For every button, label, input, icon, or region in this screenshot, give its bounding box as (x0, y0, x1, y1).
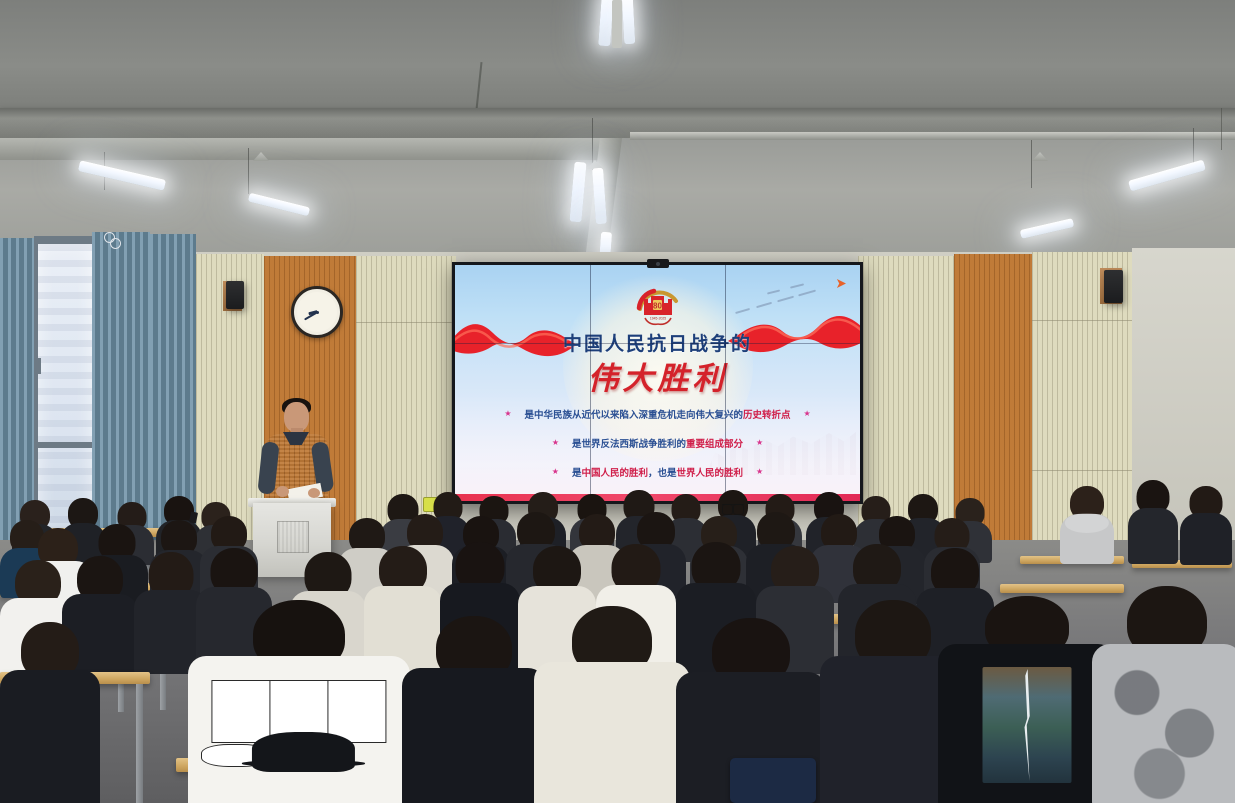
presenter (250, 398, 340, 513)
slide-bullet-1: ★ 是中华民族从近代以来陷入深重危机走向伟大复兴的历史转折点 ★ (455, 405, 860, 423)
curtain-hook-icon-2 (110, 238, 121, 249)
bullet-2-plain: 是世界反法西斯战争胜利的 (572, 439, 686, 450)
wall-seam-left (356, 322, 456, 323)
star-icon: ★ (504, 410, 511, 418)
jet-trail-6 (767, 289, 780, 294)
student-body (938, 644, 1116, 803)
student-r4-20 (1128, 480, 1178, 562)
anniversary-emblem: 80 1945-2025 (632, 281, 684, 327)
wall-seam-right (1032, 320, 1132, 321)
comic-panel-3 (329, 681, 386, 742)
student-body (1092, 644, 1235, 803)
lectern-emblem (277, 521, 309, 553)
ceiling-rail (630, 132, 1235, 140)
window-blur (38, 244, 92, 540)
camera-icon (647, 259, 669, 268)
video-wall-screen[interactable]: 80 1945-2025 中国人民抗日战争的 伟大胜利 ★ 是中华民族从近代以来… (452, 262, 863, 504)
wall-seam-bottom (1032, 470, 1132, 471)
student-front-1 (0, 622, 100, 803)
student-body (0, 670, 100, 803)
desk-front-leg-2 (136, 684, 143, 803)
classroom-scene: 80 1945-2025 中国人民抗日战争的 伟大胜利 ★ 是中华民族从近代以来… (0, 0, 1235, 803)
window-divider (38, 442, 92, 448)
bullet-2-highlight: 重要组成部分 (686, 439, 743, 450)
jacket-bolt-graphic (1021, 669, 1033, 781)
ceiling-light-3-housing (612, 0, 622, 48)
bullet-1-highlight: 历史转折点 (743, 410, 791, 421)
wall-clock (291, 286, 343, 338)
light-wire-2 (248, 148, 249, 194)
clock-center-pin (316, 311, 319, 314)
jet-trail-1 (798, 290, 816, 296)
window-pane (38, 244, 92, 540)
student-comic-tee (188, 600, 410, 803)
tee-bucket-hat-graphic (252, 732, 354, 772)
slide-bullet-3: ★ 是中国人民的胜利，也是世界人民的胜利 ★ (455, 463, 860, 481)
student-r4-21 (1180, 486, 1232, 564)
bullet-1-text: 是中华民族从近代以来陷入深重危机走向伟大复兴的历史转折点 (517, 405, 797, 423)
presenter-hand-left (276, 486, 289, 497)
student-body (1180, 513, 1232, 565)
jet-trail-5 (790, 283, 804, 288)
student-body (534, 662, 690, 803)
comic-panel-1 (212, 681, 270, 742)
light-wire-1 (592, 118, 593, 170)
glasses-icon (722, 504, 744, 514)
ceiling-soffit (0, 138, 612, 160)
wall-speaker-right (1104, 270, 1123, 303)
student-r4-19 (1060, 486, 1114, 562)
bullet-3-text: 是中国人民的胜利，也是世界人民的胜利 (565, 463, 750, 481)
student-body (188, 656, 410, 803)
slide-bullet-list: ★ 是中华民族从近代以来陷入深重危机走向伟大复兴的历史转折点 ★ ★ 是世界反法… (455, 405, 860, 492)
jacket-landscape-print (983, 667, 1072, 784)
window-latch (36, 358, 41, 374)
hanging-wire-right (1221, 108, 1222, 150)
bullet-3-plain-b: ，也是 (648, 468, 677, 479)
lead-jet-icon (833, 279, 846, 288)
bullet-2-text: 是世界反法西斯战争胜利的重要组成部分 (565, 434, 750, 452)
clock-face (297, 292, 337, 332)
wall-speaker-left (226, 281, 244, 309)
student-body (402, 668, 546, 803)
svg-text:80: 80 (653, 302, 662, 311)
bullet-3-highlight-b: 世界人民的胜利 (677, 468, 744, 479)
slide-title-line2: 伟大胜利 (455, 353, 860, 398)
star-icon: ★ (552, 468, 559, 476)
student-landscape-jacket (938, 596, 1116, 803)
student-front-8 (1092, 586, 1235, 803)
screen-seam-vertical-1 (590, 265, 592, 501)
student-body (1128, 508, 1178, 564)
bullet-3-highlight-a: 中国人民的胜利 (581, 468, 648, 479)
svg-text:1945-2025: 1945-2025 (649, 317, 665, 321)
slide-content: 80 1945-2025 中国人民抗日战争的 伟大胜利 ★ 是中华民族从近代以来… (455, 265, 860, 501)
student-front-3 (402, 616, 546, 803)
backpack (730, 758, 816, 803)
bullet-1-plain: 是中华民族从近代以来陷入深重危机走向伟大复兴的 (524, 410, 743, 421)
slide-bullet-2: ★ 是世界反法西斯战争胜利的重要组成部分 ★ (455, 434, 860, 452)
hood-ring (1065, 513, 1109, 533)
star-icon: ★ (756, 439, 763, 447)
screen-seam-vertical-2 (725, 265, 727, 501)
ceiling-light-2 (622, 0, 636, 44)
star-icon: ★ (552, 439, 559, 447)
light-wire-3 (1031, 140, 1032, 188)
star-icon: ★ (756, 468, 763, 476)
student-front-4 (534, 606, 690, 803)
jet-trail-2 (777, 296, 794, 302)
star-icon: ★ (804, 410, 811, 418)
screen-seam-horizontal (455, 343, 860, 345)
presenter-hand-right (308, 488, 320, 498)
